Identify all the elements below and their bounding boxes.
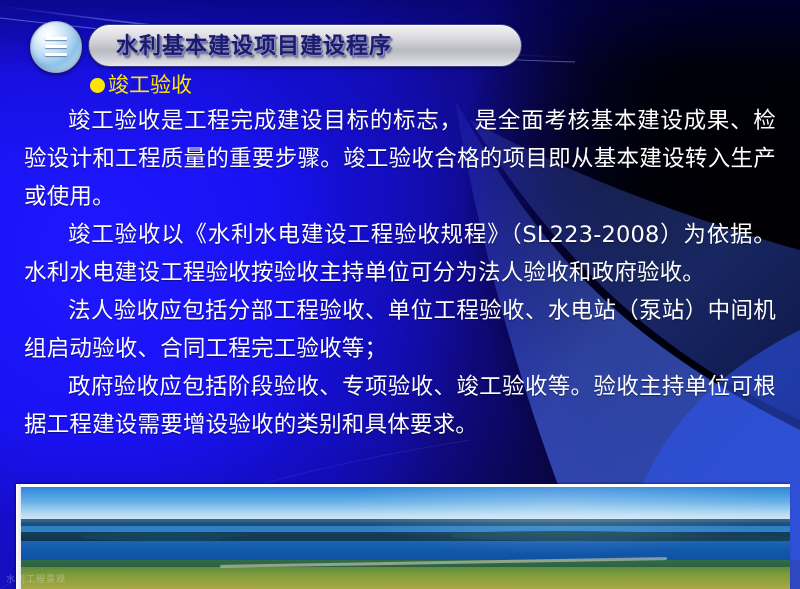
photo-watermark: 水利工程景观	[6, 572, 66, 585]
paragraph-3: 法人验收应包括分部工程验收、单位工程验收、水电站（泵站）中间机组启动验收、合同工…	[24, 292, 776, 368]
presentation-slide: 水利基本建设项目建设程序 竣工验收 竣工验收是工程完成建设目标的标志， 是全面考…	[0, 0, 800, 589]
slide-body: 竣工验收 竣工验收是工程完成建设目标的标志， 是全面考核基本建设成果、检验设计和…	[0, 70, 800, 444]
section-heading-label: 竣工验收	[108, 73, 192, 97]
slide-header: 水利基本建设项目建设程序	[0, 0, 800, 78]
landscape-photo-frame	[16, 484, 790, 589]
hamburger-bars	[45, 37, 67, 57]
paragraph-1: 竣工验收是工程完成建设目标的标志， 是全面考核基本建设成果、检验设计和工程质量的…	[24, 102, 776, 216]
yellow-dot-icon	[90, 78, 105, 93]
reservoir-landscape-photo	[20, 487, 790, 589]
section-heading: 竣工验收	[90, 70, 800, 100]
paragraph-4: 政府验收应包括阶段验收、专项验收、竣工验收等。验收主持单位可根据工程建设需要增设…	[24, 368, 776, 444]
page-title: 水利基本建设项目建设程序	[116, 28, 392, 60]
hamburger-menu-icon[interactable]	[30, 21, 82, 73]
photo-haze	[20, 487, 790, 589]
paragraph-2: 竣工验收以《水利水电建设工程验收规程》（SL223-2008）为依据。水利水电建…	[24, 216, 776, 292]
